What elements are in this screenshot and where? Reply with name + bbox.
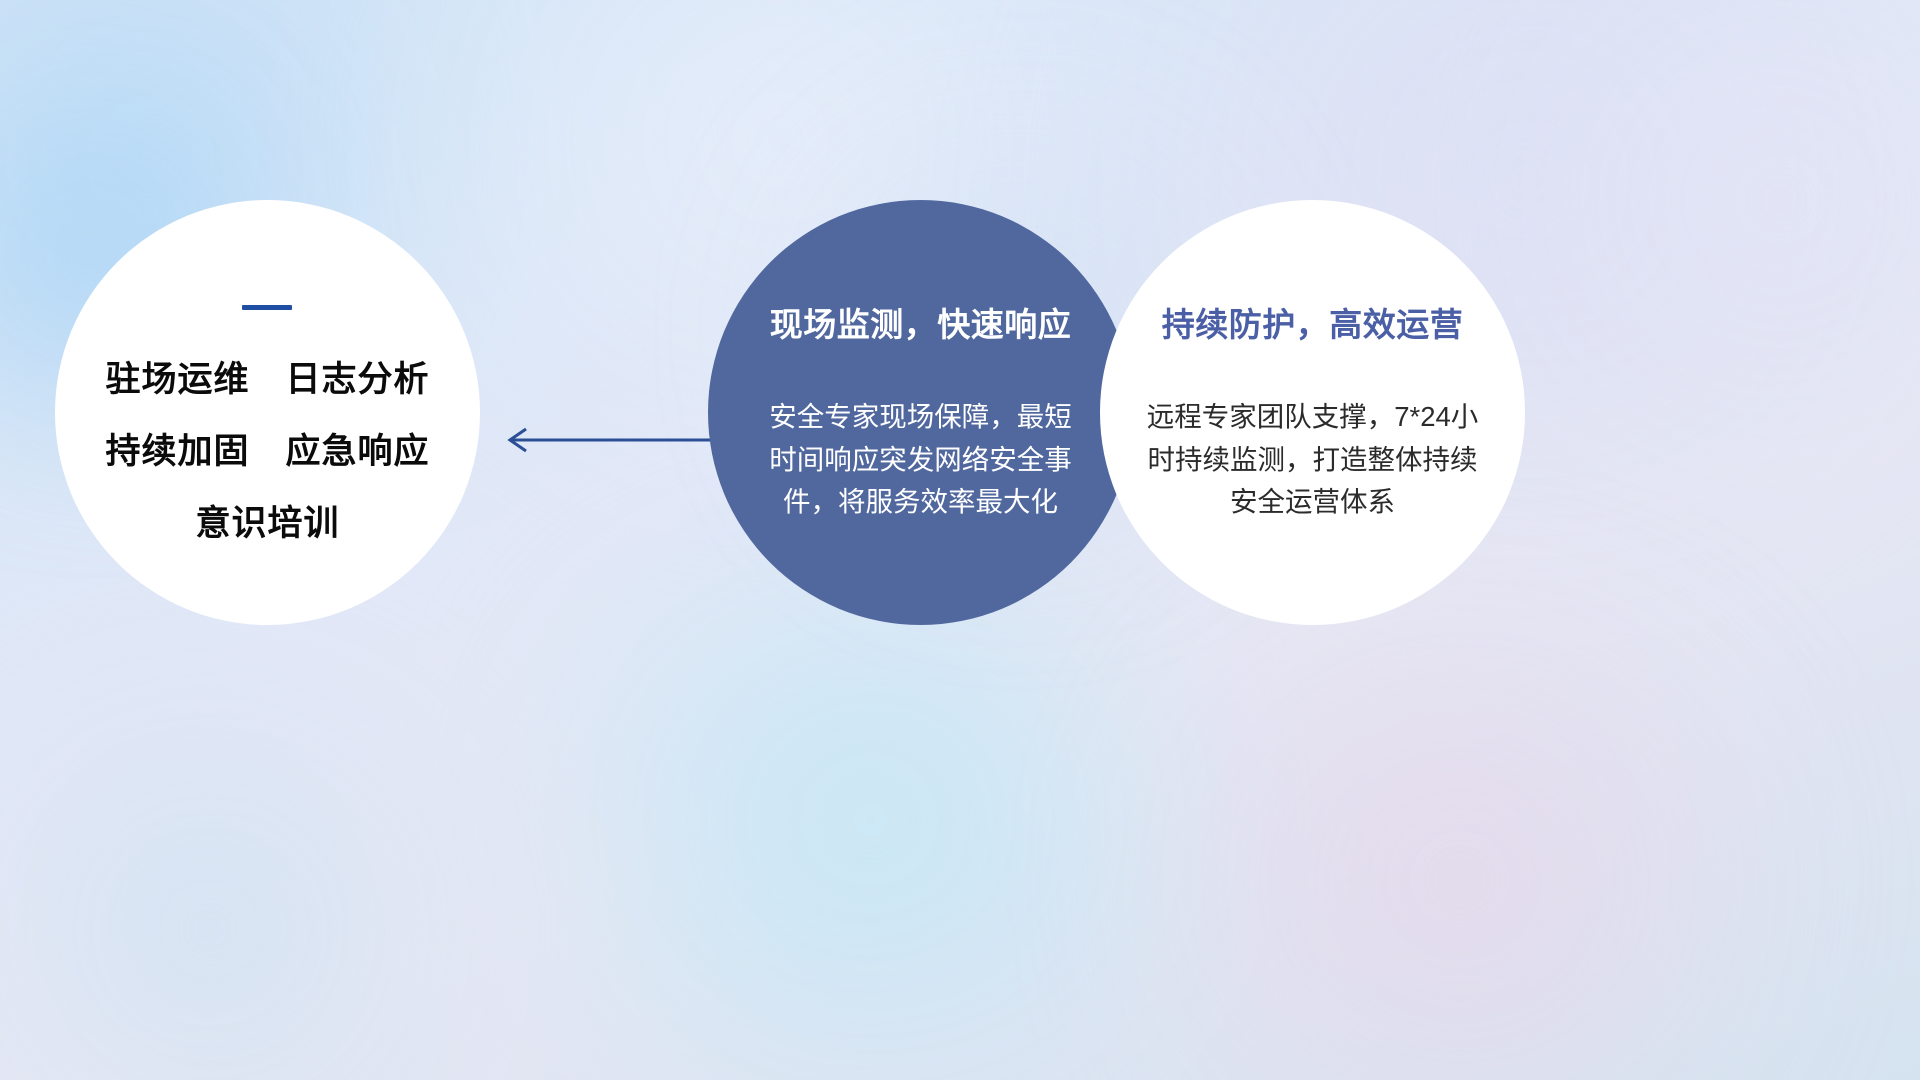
service-card-remote-title: 持续防护，高效运营 bbox=[1162, 298, 1464, 346]
service-card-remote-body: 远程专家团队支撑，7*24小时持续监测，打造整体持续安全运营体系 bbox=[1140, 396, 1485, 524]
service-card-onsite-title: 现场监测，快速响应 bbox=[770, 298, 1072, 346]
capability-line: 意识培训 bbox=[195, 506, 339, 541]
capability-card-left-content: 驻场运维 日志分析 持续加固 应急响应 意识培训 bbox=[105, 305, 429, 541]
capability-card-left[interactable]: 驻场运维 日志分析 持续加固 应急响应 意识培训 bbox=[55, 200, 480, 625]
service-card-remote[interactable]: 持续防护，高效运营 远程专家团队支撑，7*24小时持续监测，打造整体持续安全运营… bbox=[1100, 200, 1525, 625]
capability-line: 持续加固 应急响应 bbox=[105, 434, 429, 469]
service-card-onsite[interactable]: 现场监测，快速响应 安全专家现场保障，最短时间响应突发网络安全事件，将服务效率最… bbox=[708, 200, 1133, 625]
slide-canvas: 驻场运维 日志分析 持续加固 应急响应 意识培训 现场监测，快速响应 安全专家现… bbox=[0, 0, 1920, 1080]
divider-dash bbox=[242, 305, 292, 310]
arrow-left-icon bbox=[494, 425, 719, 455]
service-card-onsite-body: 安全专家现场保障，最短时间响应突发网络安全事件，将服务效率最大化 bbox=[768, 396, 1073, 524]
capability-line: 驻场运维 日志分析 bbox=[105, 362, 429, 397]
